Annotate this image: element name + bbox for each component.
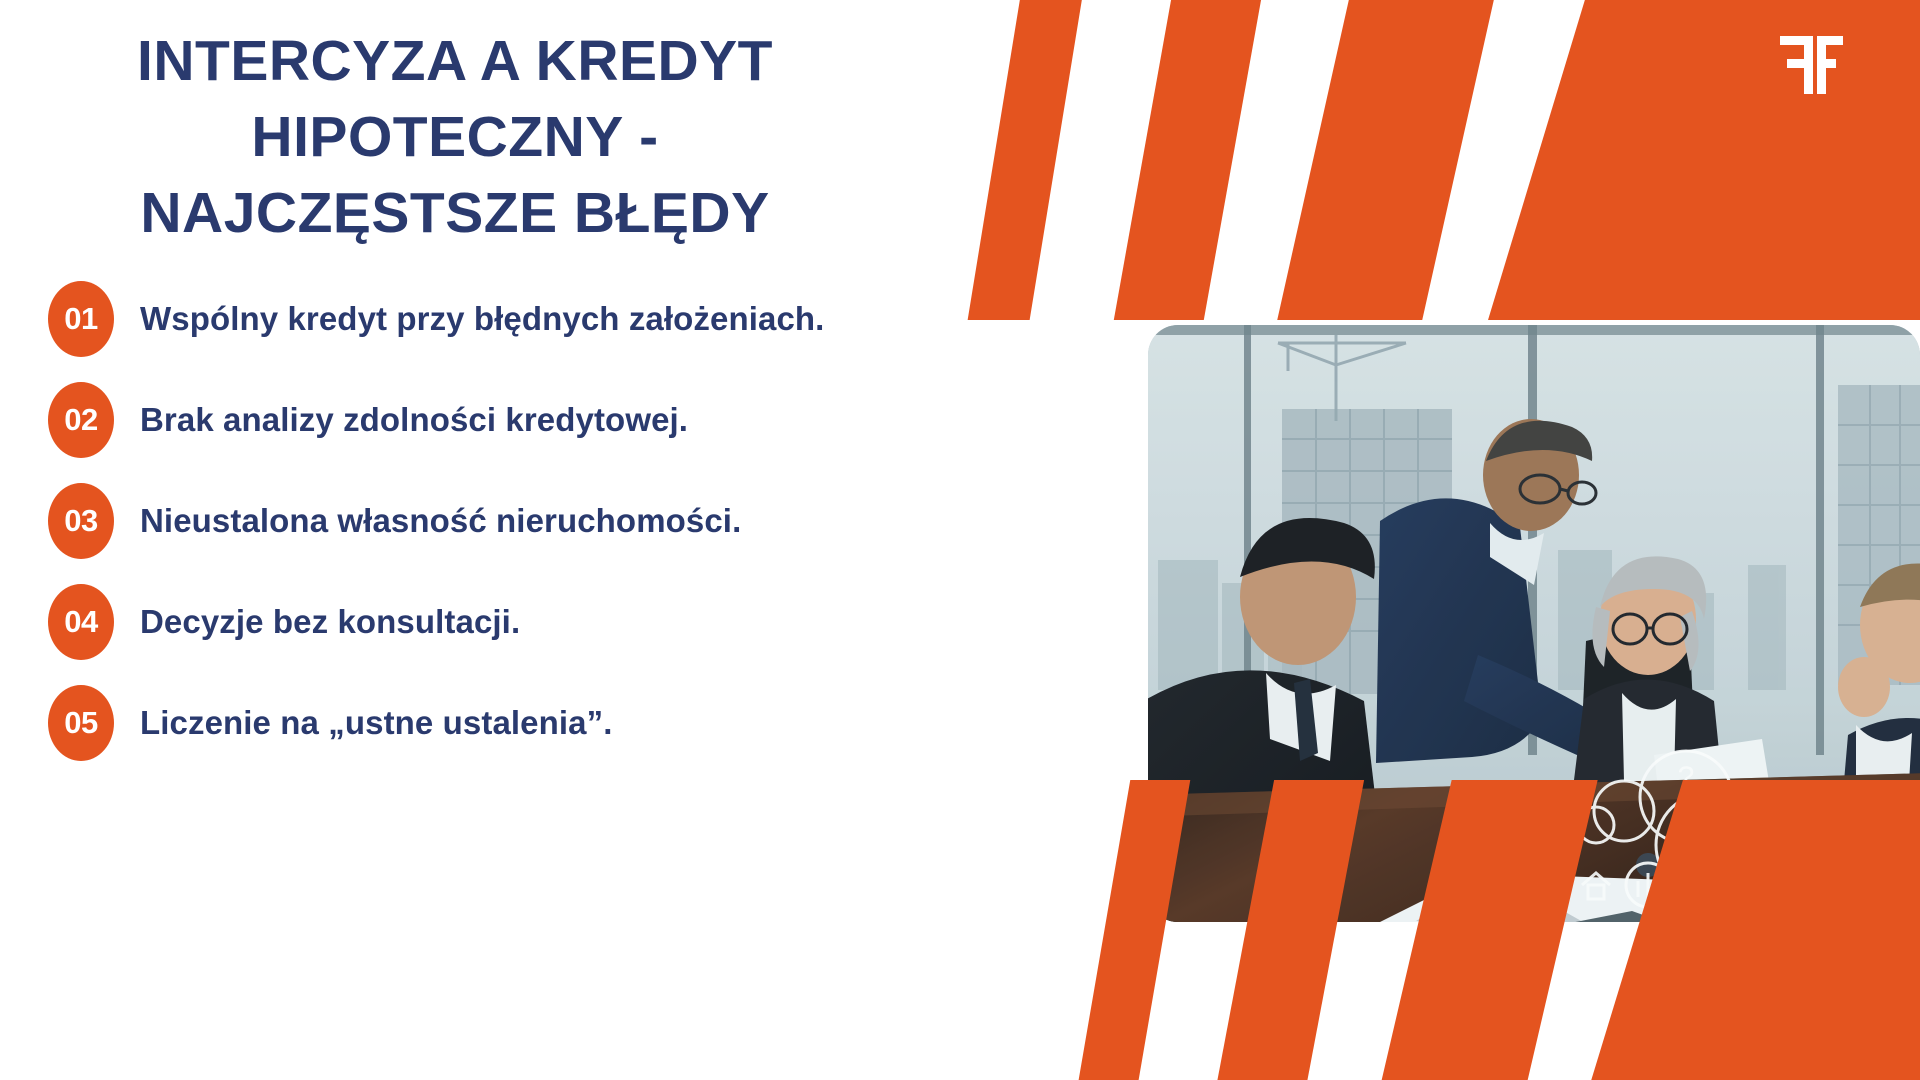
diagonal-stripes-bottom-right (1040, 780, 1920, 1080)
list-item-label: Brak analizy zdolności kredytowej. (140, 401, 688, 439)
list-item-label: Decyzje bez konsultacji. (140, 603, 520, 641)
list-item-number-badge: 03 (48, 483, 114, 559)
page-title-line-2: HIPOTECZNY - (251, 105, 658, 169)
ff-logo-glyph (1770, 32, 1854, 98)
list-item-number-badge: 04 (48, 584, 114, 660)
list-item-label: Wspólny kredyt przy błędnych założeniach… (140, 300, 824, 338)
list-item-number-badge: 05 (48, 685, 114, 761)
page-title-line-1: INTERCYZA A KREDYT (137, 29, 773, 93)
page-title-line-3: NAJCZĘSTSZE BŁĘDY (140, 181, 769, 245)
numbered-mistakes-list: 01 Wspólny kredyt przy błędnych założeni… (48, 268, 928, 773)
ff-monogram-logo (1770, 32, 1854, 98)
list-item: 02 Brak analizy zdolności kredytowej. (48, 369, 928, 470)
list-item: 01 Wspólny kredyt przy błędnych założeni… (48, 268, 928, 369)
list-item: 03 Nieustalona własność nieruchomości. (48, 470, 928, 571)
list-item-number-badge: 02 (48, 382, 114, 458)
list-item-number-badge: 01 (48, 281, 114, 357)
list-item: 05 Liczenie na „ustne ustalenia”. (48, 672, 928, 773)
list-item: 04 Decyzje bez konsultacji. (48, 571, 928, 672)
slide-canvas: INTERCYZA A KREDYT HIPOTECZNY - NAJCZĘST… (0, 0, 1920, 1080)
list-item-label: Liczenie na „ustne ustalenia”. (140, 704, 612, 742)
stripes-bottom-svg (1040, 780, 1920, 1080)
list-item-label: Nieustalona własność nieruchomości. (140, 502, 741, 540)
page-title: INTERCYZA A KREDYT HIPOTECZNY - NAJCZĘST… (60, 24, 850, 251)
